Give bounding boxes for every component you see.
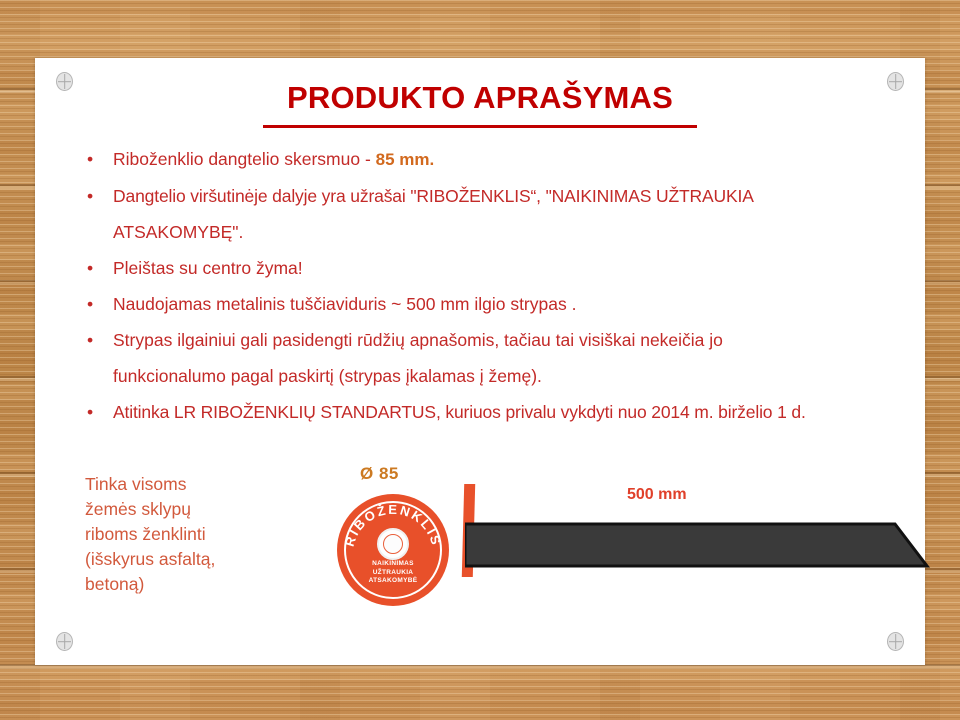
list-item: • Atitinka LR RIBOŽENKLIŲ STANDARTUS, ku… [48, 394, 928, 430]
list-item-text: Riboženklio dangtelio skersmuo - [113, 149, 376, 169]
list-item-text-line2: funkcionalumo pagal paskirtį (strypas įk… [113, 358, 928, 394]
metal-rod-graphic [465, 516, 935, 586]
list-item-text: Naudojamas metalinis tuščiaviduris ~ 500… [113, 294, 576, 314]
caption-line: (išskyrus asfaltą, [85, 547, 305, 572]
bullet-list: • Riboženklio dangtelio skersmuo - 85 mm… [48, 141, 928, 430]
disc-center-line: UŽTRAUKIA [337, 569, 449, 578]
bullet-marker: • [87, 322, 93, 358]
caption-line: žemės sklypų [85, 497, 305, 522]
disc-center-hub-inner [383, 534, 403, 554]
list-item: • Pleištas su centro žyma! [48, 250, 928, 286]
bullet-marker: • [87, 141, 93, 177]
list-item: • Dangtelio viršutinėje dalyje yra užraš… [48, 178, 928, 250]
caption-line: betoną) [85, 572, 305, 597]
disc-center-line: ATSAKOMYBĖ [337, 577, 449, 586]
bullet-marker: • [87, 394, 93, 430]
list-item-text: Atitinka LR RIBOŽENKLIŲ STANDARTUS, kuri… [113, 402, 806, 422]
list-item-text: Strypas ilgainiui gali pasidengti rūdžių… [113, 322, 928, 358]
white-content-card: PRODUKTO APRAŠYMAS • Riboženklio dangtel… [35, 58, 925, 665]
figure-caption: Tinka visoms žemės sklypų riboms ženklin… [85, 472, 305, 597]
slide-background: PRODUKTO APRAŠYMAS • Riboženklio dangtel… [0, 0, 960, 720]
bullet-marker: • [87, 178, 93, 214]
list-item: • Naudojamas metalinis tuščiaviduris ~ 5… [48, 286, 928, 322]
title-underline [263, 125, 697, 128]
rod-shape [465, 524, 927, 566]
caption-line: riboms ženklinti [85, 522, 305, 547]
list-item-text: Pleištas su centro žyma! [113, 258, 303, 278]
list-item-text: Dangtelio viršutinėje dalyje yra užrašai… [113, 178, 928, 214]
page-title: PRODUKTO APRAŠYMAS [35, 80, 925, 116]
diameter-label: Ø 85 [360, 464, 399, 484]
marker-cap-disc: RIBOŽENKLIS NAIKINIMAS UŽTRAUKIA ATSAKOM… [337, 494, 449, 606]
disc-center-line: NAIKINIMAS [337, 560, 449, 569]
list-item: • Riboženklio dangtelio skersmuo - 85 mm… [48, 141, 928, 178]
bullet-marker: • [87, 250, 93, 286]
caption-line: Tinka visoms [85, 472, 305, 497]
list-item-text-line2: ATSAKOMYBĘ". [113, 214, 928, 250]
list-item: • Strypas ilgainiui gali pasidengti rūdž… [48, 322, 928, 394]
list-item-accent-value: 85 mm. [376, 150, 435, 169]
bullet-marker: • [87, 286, 93, 322]
disc-center-text: NAIKINIMAS UŽTRAUKIA ATSAKOMYBĖ [337, 560, 449, 586]
product-figure: Tinka visoms žemės sklypų riboms ženklin… [35, 466, 925, 666]
rod-length-label: 500 mm [627, 486, 687, 504]
